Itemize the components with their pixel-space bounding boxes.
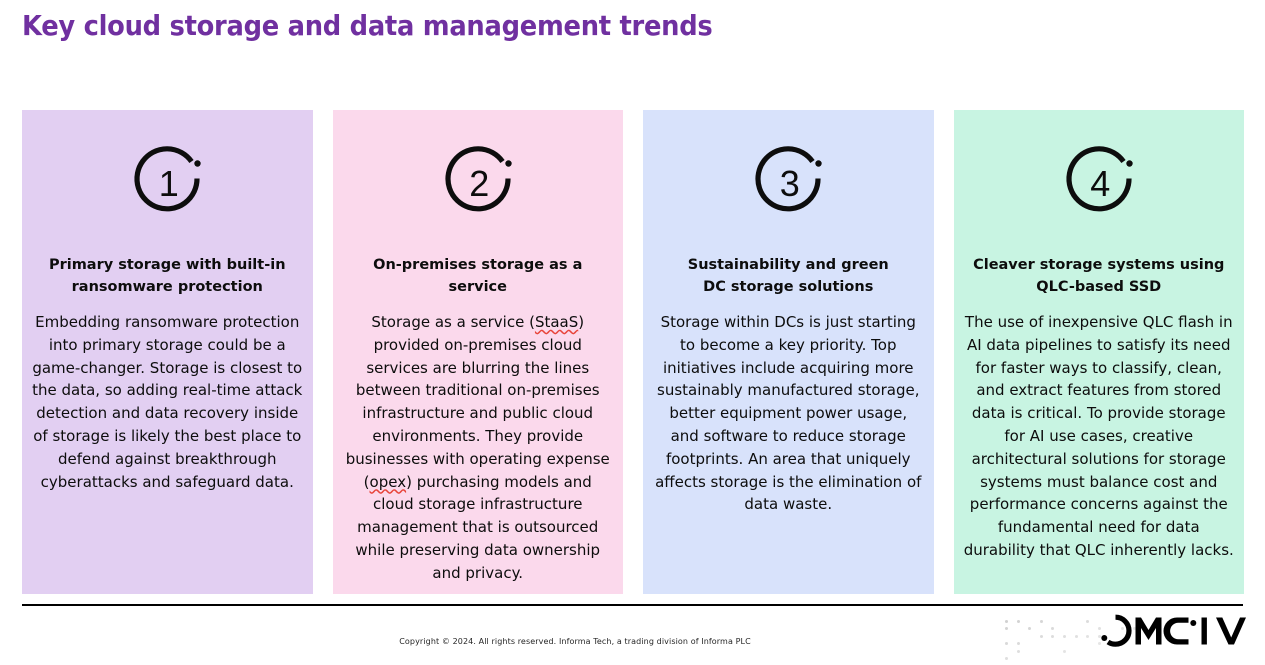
trend-card-2: 2On-premises storage as a serviceStorage… bbox=[333, 110, 624, 594]
decorative-dot bbox=[1086, 635, 1089, 638]
numbered-circle-icon: 3 bbox=[742, 138, 834, 230]
decorative-dot bbox=[1075, 635, 1078, 638]
numbered-circle-icon: 4 bbox=[1053, 138, 1145, 230]
numbered-circle-icon: 2 bbox=[432, 138, 524, 230]
decorative-dot bbox=[1005, 657, 1008, 660]
card-number: 1 bbox=[121, 138, 213, 230]
decorative-dot bbox=[1017, 650, 1020, 653]
decorative-dot bbox=[1017, 642, 1020, 645]
decorative-dot bbox=[1005, 627, 1008, 630]
decorative-dot bbox=[1051, 635, 1054, 638]
card-heading: On-premises storage as a service bbox=[343, 254, 614, 298]
card-number: 4 bbox=[1053, 138, 1145, 230]
copyright-text: Copyright © 2024. All rights reserved. I… bbox=[0, 637, 1150, 646]
card-number: 3 bbox=[742, 138, 834, 230]
trend-card-1: 1Primary storage with built-in ransomwar… bbox=[22, 110, 313, 594]
body-text-run: The use of inexpensive QLC flash in AI d… bbox=[964, 313, 1234, 559]
card-number: 2 bbox=[432, 138, 524, 230]
card-heading: Sustainability and green DC storage solu… bbox=[653, 254, 924, 298]
decorative-dot bbox=[1005, 642, 1008, 645]
card-body-text: Storage within DCs is just starting to b… bbox=[653, 311, 924, 516]
decorative-dot bbox=[1040, 635, 1043, 638]
decorative-dot bbox=[1040, 620, 1043, 623]
body-text-run: Storage within DCs is just starting to b… bbox=[655, 313, 921, 513]
card-body-text: Storage as a service (StaaS) provided on… bbox=[343, 311, 614, 585]
decorative-dot bbox=[1086, 620, 1089, 623]
card-body-text: Embedding ransomware protection into pri… bbox=[32, 311, 303, 493]
decorative-dot bbox=[1005, 620, 1008, 623]
body-text-run: Embedding ransomware protection into pri… bbox=[32, 313, 302, 491]
spellcheck-flagged-word[interactable]: opex bbox=[370, 473, 407, 491]
decorative-dot bbox=[1051, 627, 1054, 630]
card-body-text: The use of inexpensive QLC flash in AI d… bbox=[964, 311, 1235, 562]
decorative-dot bbox=[1063, 650, 1066, 653]
body-text-run: ) provided on-premises cloud services ar… bbox=[346, 313, 610, 491]
decorative-dot bbox=[1063, 635, 1066, 638]
omdia-logo bbox=[1098, 614, 1246, 648]
card-heading: Primary storage with built-in ransomware… bbox=[32, 254, 303, 298]
body-text-run: Storage as a service ( bbox=[371, 313, 535, 331]
spellcheck-flagged-word[interactable]: StaaS bbox=[535, 313, 578, 331]
card-heading: Cleaver storage systems using QLC-based … bbox=[964, 254, 1235, 298]
decorative-dot bbox=[1028, 627, 1031, 630]
page-title: Key cloud storage and data management tr… bbox=[22, 9, 712, 42]
trend-card-4: 4Cleaver storage systems using QLC-based… bbox=[954, 110, 1245, 594]
trend-card-3: 3Sustainability and green DC storage sol… bbox=[643, 110, 934, 594]
numbered-circle-icon: 1 bbox=[121, 138, 213, 230]
footer-divider bbox=[22, 604, 1243, 606]
decorative-dot bbox=[1017, 620, 1020, 623]
trend-cards-row: 1Primary storage with built-in ransomwar… bbox=[22, 110, 1244, 594]
